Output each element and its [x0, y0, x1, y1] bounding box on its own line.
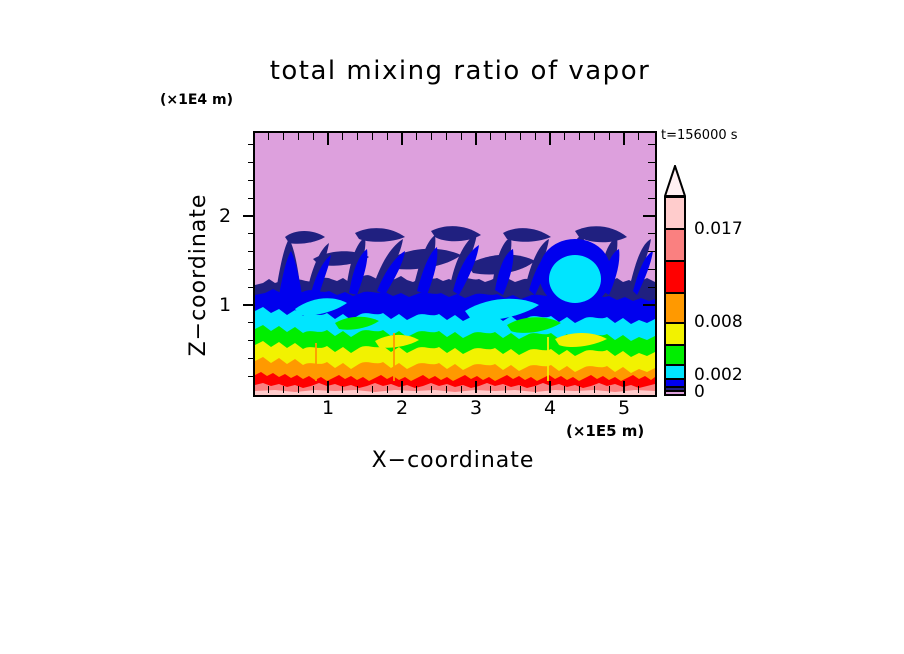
x-tick-top-minor — [283, 133, 284, 140]
x-tick-minor — [313, 386, 314, 393]
x-tick-top-minor — [594, 133, 595, 140]
x-tick-top-minor — [446, 133, 447, 140]
colorbar-divider — [664, 292, 686, 294]
colorbar-divider — [664, 364, 686, 366]
colorbar-divider — [664, 386, 686, 388]
y-tick-right-minor — [648, 251, 655, 252]
x-axis-title: X−coordinate — [253, 448, 653, 473]
x-tick-top-minor — [505, 133, 506, 140]
colorbar-divider — [664, 228, 686, 230]
y-tick-minor — [248, 322, 255, 323]
x-tick-top-minor — [313, 133, 314, 140]
colorbar-overflow-arrow — [664, 165, 686, 197]
colorbar-divider — [664, 322, 686, 324]
x-tick-top-major — [327, 133, 329, 145]
y-tick-label: 1 — [212, 294, 238, 316]
x-tick-top-minor — [609, 133, 610, 140]
y-tick-minor — [248, 287, 255, 288]
x-tick-minor — [298, 386, 299, 393]
chart-title: total mixing ratio of vapor — [245, 56, 675, 86]
x-tick-minor — [416, 386, 417, 393]
colorbar-divider — [664, 260, 686, 262]
x-tick-top-major — [401, 133, 403, 145]
x-tick-top-major — [549, 133, 551, 145]
timestamp-label: t=156000 s — [661, 128, 738, 143]
x-tick-minor — [431, 386, 432, 393]
y-tick-minor — [248, 144, 255, 145]
colorbar-divider — [664, 390, 686, 392]
colorbar-band-lightpink — [664, 196, 686, 228]
x-tick-major — [623, 381, 625, 393]
x-tick-top-major — [475, 133, 477, 145]
x-tick-minor — [520, 386, 521, 393]
x-tick-label: 4 — [535, 397, 565, 419]
y-tick-major — [243, 304, 255, 306]
x-tick-top-minor — [298, 133, 299, 140]
y-tick-minor — [248, 251, 255, 252]
x-tick-top-minor — [268, 133, 269, 140]
x-tick-top-minor — [638, 133, 639, 140]
x-tick-top-minor — [490, 133, 491, 140]
x-tick-major — [475, 381, 477, 393]
x-tick-label: 2 — [387, 397, 417, 419]
colorbar-label-0017: 0.017 — [694, 219, 743, 239]
contour-field — [255, 133, 655, 395]
x-tick-top-minor — [387, 133, 388, 140]
x-tick-label: 1 — [313, 397, 343, 419]
x-tick-minor — [535, 386, 536, 393]
y-tick-right-minor — [648, 162, 655, 163]
x-tick-minor — [268, 386, 269, 393]
y-tick-minor — [248, 162, 255, 163]
x-tick-top-minor — [416, 133, 417, 140]
colorbar-label-0008: 0.008 — [694, 312, 743, 332]
x-tick-top-minor — [520, 133, 521, 140]
x-tick-minor — [387, 386, 388, 393]
y-tick-right-minor — [648, 198, 655, 199]
colorbar-band-salmon — [664, 228, 686, 260]
x-tick-minor — [490, 386, 491, 393]
y-axis-title-text: Z−coordinate — [186, 194, 211, 357]
x-tick-major — [549, 381, 551, 393]
contour-plot-area — [253, 131, 657, 397]
y-tick-minor — [248, 358, 255, 359]
x-tick-minor — [461, 386, 462, 393]
x-tick-label: 5 — [609, 397, 639, 419]
x-tick-top-major — [623, 133, 625, 145]
x-tick-minor — [505, 386, 506, 393]
x-tick-minor — [638, 386, 639, 393]
colorbar-band-cyan — [664, 364, 686, 378]
colorbar-divider — [664, 344, 686, 346]
y-tick-right-minor — [648, 269, 655, 270]
x-tick-minor — [446, 386, 447, 393]
x-tick-minor — [609, 386, 610, 393]
y-tick-right-major — [643, 304, 655, 306]
x-tick-top-minor — [357, 133, 358, 140]
y-tick-minor — [248, 198, 255, 199]
colorbar-divider — [664, 378, 686, 380]
x-tick-major — [327, 381, 329, 393]
x-tick-minor — [342, 386, 343, 393]
colorbar-band-yellow — [664, 322, 686, 344]
x-tick-top-minor — [431, 133, 432, 140]
x-tick-major — [401, 381, 403, 393]
x-tick-top-minor — [342, 133, 343, 140]
y-tick-right-minor — [648, 144, 655, 145]
y-tick-major — [243, 215, 255, 217]
figure-canvas: total mixing ratio of vapor (×1E4 m) t=1… — [0, 0, 904, 654]
x-tick-minor — [372, 386, 373, 393]
x-tick-minor — [283, 386, 284, 393]
x-tick-minor — [579, 386, 580, 393]
y-tick-minor — [248, 340, 255, 341]
x-tick-minor — [357, 386, 358, 393]
x-tick-top-minor — [372, 133, 373, 140]
y-tick-right-minor — [648, 180, 655, 181]
x-tick-minor — [594, 386, 595, 393]
colorbar — [664, 196, 686, 392]
y-tick-minor — [248, 180, 255, 181]
y-axis-title: Z−coordinate — [186, 0, 216, 155]
y-tick-right-major — [643, 215, 655, 217]
y-tick-right-minor — [648, 233, 655, 234]
x-tick-top-minor — [535, 133, 536, 140]
colorbar-band-green — [664, 344, 686, 364]
x-tick-label: 3 — [461, 397, 491, 419]
colorbar-band-orange — [664, 292, 686, 322]
y-tick-label: 2 — [212, 205, 238, 227]
colorbar-label-0: 0 — [694, 382, 705, 402]
x-tick-top-minor — [564, 133, 565, 140]
x-tick-top-minor — [461, 133, 462, 140]
x-tick-minor — [564, 386, 565, 393]
y-tick-minor — [248, 269, 255, 270]
colorbar-band-red — [664, 260, 686, 292]
x-tick-top-minor — [579, 133, 580, 140]
y-tick-minor — [248, 376, 255, 377]
x-axis-unit-label: (×1E5 m) — [566, 422, 644, 440]
y-tick-right-minor — [648, 287, 655, 288]
y-tick-minor — [248, 233, 255, 234]
